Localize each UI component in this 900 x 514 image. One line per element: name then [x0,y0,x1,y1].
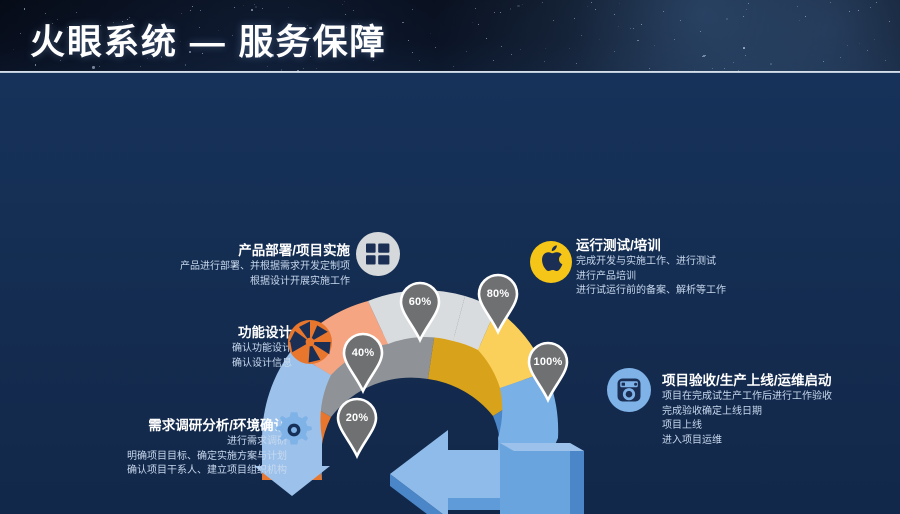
info-block-line: 产品进行部署、并根据需求开发定制项 [172,260,350,275]
pin-shape-icon [474,273,522,335]
info-block-line: 进行试运行前的备案、解析等工作 [576,284,806,299]
info-block-deployment[interactable]: 产品部署/项目实施 产品进行部署、并根据需求开发定制项 根据设计开展实施工作 [172,241,350,289]
pin-shape-icon [524,341,572,403]
slide-header: 火眼系统 — 服务保障 [0,0,900,73]
info-block-line: 项目在完成试生产工作后进行工作验收 [662,390,898,405]
page-title: 火眼系统 — 服务保障 [30,22,386,64]
windows-icon [355,231,401,277]
info-block-heading: 需求调研分析/环境确认 [75,416,287,435]
pin-marker-60[interactable]: 60% [396,281,444,343]
info-block-heading: 运行测试/培训 [576,236,806,255]
info-block-line: 根据设计开展实施工作 [172,275,350,290]
pin-shape-icon [339,332,387,394]
pin-marker-80[interactable]: 80% [474,273,522,335]
info-block-heading: 功能设计 [180,323,292,342]
pin-marker-20[interactable]: 20% [333,397,381,459]
info-block-line: 明确项目目标、确定实施方案与计划 [75,450,287,465]
slide-body: 20% 40% 60% 80% 100% [0,73,900,514]
info-block-line: 进行产品培训 [576,270,806,285]
instagram-icon [606,367,652,413]
info-block-line: 确认设计信息 [180,357,292,372]
info-block-line: 进入项目运维 [662,434,898,449]
apple-icon [529,240,573,284]
info-block-line: 项目上线 [662,419,898,434]
gear-icon [272,408,316,452]
info-block-heading: 产品部署/项目实施 [172,241,350,260]
pin-marker-100[interactable]: 100% [524,341,572,403]
info-block-function-design[interactable]: 功能设计 确认功能设计 确认设计信息 [180,323,292,371]
info-block-testing[interactable]: 运行测试/培训 完成开发与实施工作、进行测试 进行产品培训 进行试运行前的备案、… [576,236,806,299]
info-block-heading: 项目验收/生产上线/运维启动 [662,371,898,390]
info-block-line: 进行需求调研 [75,435,287,450]
info-block-requirement[interactable]: 需求调研分析/环境确认 进行需求调研 明确项目目标、确定实施方案与计划 确认项目… [75,416,287,479]
pin-shape-icon [396,281,444,343]
info-block-line: 确认项目干系人、建立项目组织机构 [75,464,287,479]
pin-shape-icon [333,397,381,459]
info-block-line: 完成开发与实施工作、进行测试 [576,255,806,270]
info-block-acceptance[interactable]: 项目验收/生产上线/运维启动 项目在完成试生产工作后进行工作验收 完成验收确定上… [662,371,898,448]
info-block-line: 确认功能设计 [180,342,292,357]
info-block-line: 完成验收确定上线日期 [662,405,898,420]
pin-marker-40[interactable]: 40% [339,332,387,394]
aperture-icon [286,318,334,366]
slide-root: 火眼系统 — 服务保障 [0,0,900,514]
